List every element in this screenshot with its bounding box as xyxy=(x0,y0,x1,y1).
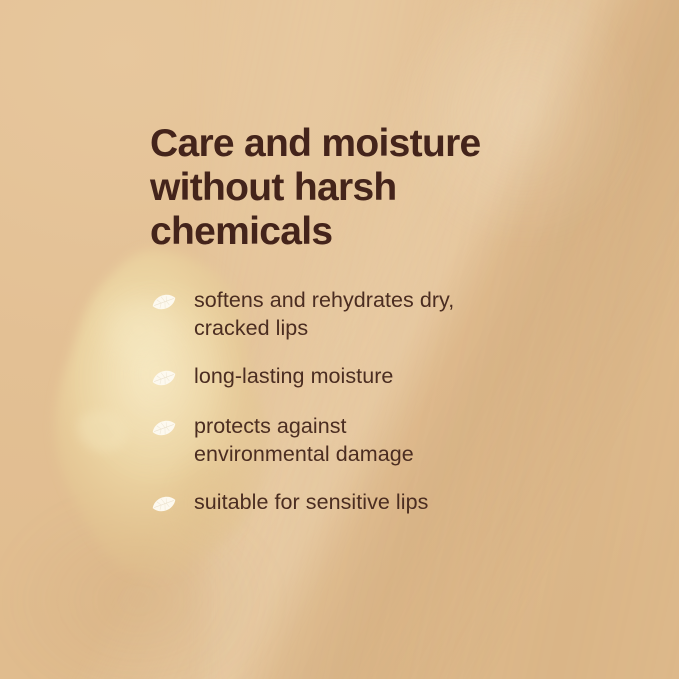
list-item: suitable for sensitive lips xyxy=(150,488,620,518)
list-item: protects against environmental damage xyxy=(150,412,620,468)
list-item-label: long-lasting moisture xyxy=(194,362,620,390)
benefits-list: softens and rehydrates dry, cracked lips… xyxy=(150,286,620,518)
leaf-icon xyxy=(150,493,178,515)
list-item: softens and rehydrates dry, cracked lips xyxy=(150,286,620,342)
headline-line-1: Care and moisture xyxy=(150,122,570,166)
list-item-label: softens and rehydrates dry, cracked lips xyxy=(194,286,620,342)
page-title: Care and moisture without harsh chemical… xyxy=(150,122,570,254)
headline-line-3: chemicals xyxy=(150,210,570,254)
list-item-label: suitable for sensitive lips xyxy=(194,488,620,516)
leaf-icon xyxy=(150,367,178,389)
card-content: Care and moisture without harsh chemical… xyxy=(0,0,679,679)
leaf-icon xyxy=(150,417,178,439)
leaf-icon xyxy=(150,291,178,313)
list-item-label: protects against environmental damage xyxy=(194,412,620,468)
list-item: long-lasting moisture xyxy=(150,362,620,392)
headline-line-2: without harsh xyxy=(150,166,570,210)
product-benefits-card: Care and moisture without harsh chemical… xyxy=(0,0,679,679)
